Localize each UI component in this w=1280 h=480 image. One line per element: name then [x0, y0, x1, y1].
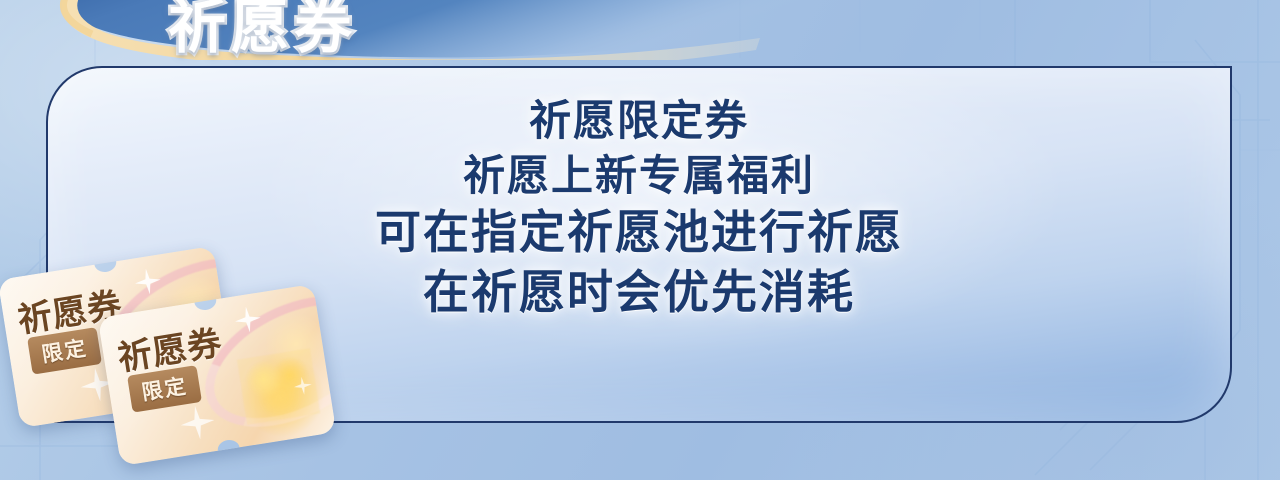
banner-title: 祈愿券 — [168, 0, 357, 56]
panel-line-1: 祈愿限定券 — [48, 94, 1230, 149]
panel-line-2: 祈愿上新专属福利 — [48, 149, 1230, 204]
panel-text-block: 祈愿限定券 祈愿上新专属福利 可在指定祈愿池进行祈愿 在祈愿时会优先消耗 — [48, 94, 1230, 323]
promo-banner-stage: 祈愿券 祈愿券 祈愿限定券 祈愿上新专属福利 可在指定祈愿池进行祈愿 在祈愿时会… — [0, 0, 1280, 480]
ribbon-shape — [0, 0, 820, 60]
panel-line-3: 可在指定祈愿池进行祈愿 — [48, 203, 1230, 263]
title-ribbon: 祈愿券 祈愿券 — [0, 0, 820, 60]
